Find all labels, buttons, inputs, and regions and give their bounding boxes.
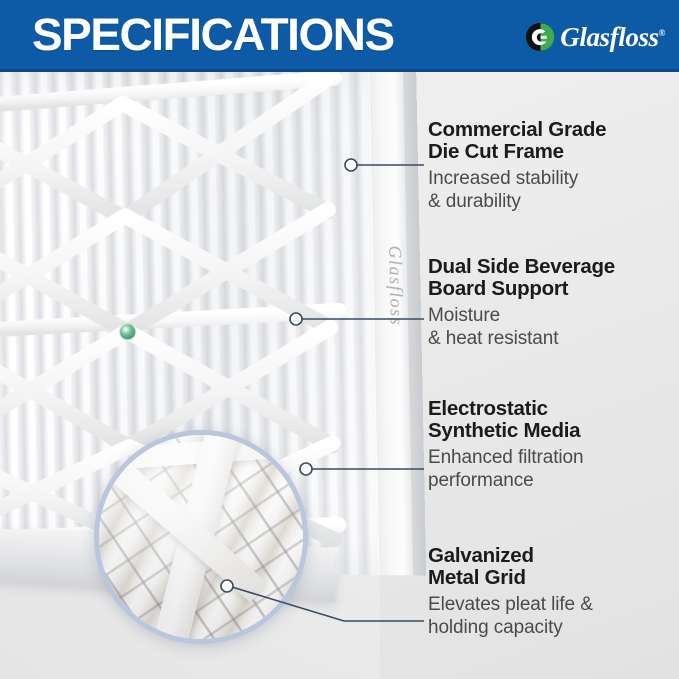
brand-name: Glasfloss <box>560 22 658 52</box>
callout-dual-side-beverage-board-support: Dual Side Beverage Board Support Moistur… <box>428 256 679 350</box>
callout-sub-line1: Enhanced filtration <box>428 446 679 469</box>
brand-trademark: ® <box>659 28 665 38</box>
callout-title-line1: Commercial Grade <box>428 119 679 141</box>
magnifier-contents <box>99 435 303 639</box>
header-bar: SPECIFICATIONS Glasfloss® <box>0 0 679 72</box>
callout-sub-line2: & heat resistant <box>428 327 679 350</box>
callout-commercial-grade-die-cut-frame: Commercial Grade Die Cut Frame Increased… <box>428 119 679 213</box>
callout-sub-line1: Moisture <box>428 304 679 327</box>
callout-sub-line1: Elevates pleat life & <box>428 593 679 616</box>
frame-brand-label: Glasfloss <box>384 245 407 326</box>
callout-sub-line2: performance <box>428 469 679 492</box>
callout-title-line2: Board Support <box>428 278 679 300</box>
callout-title-line1: Dual Side Beverage <box>428 256 679 278</box>
glasfloss-g-logo-icon <box>525 22 555 52</box>
callout-electrostatic-synthetic-media: Electrostatic Synthetic Media Enhanced f… <box>428 398 679 492</box>
callout-title-line1: Electrostatic <box>428 398 679 420</box>
brand-wordmark: Glasfloss® <box>560 24 665 51</box>
callout-sub-line1: Increased stability <box>428 167 679 190</box>
magnified-detail-circle <box>94 430 308 644</box>
magnifier-shading-overlay <box>99 435 303 639</box>
brand-logo: Glasfloss® <box>525 20 665 54</box>
callout-title-line2: Die Cut Frame <box>428 141 679 163</box>
callout-sub-line2: holding capacity <box>428 616 679 639</box>
callout-title-line2: Metal Grid <box>428 567 679 589</box>
specifications-infographic: Glasfloss <box>0 0 679 679</box>
callout-sub-line2: & durability <box>428 190 679 213</box>
callout-galvanized-metal-grid: Galvanized Metal Grid Elevates pleat lif… <box>428 545 679 639</box>
page-title: SPECIFICATIONS <box>32 9 394 61</box>
callout-title-line1: Galvanized <box>428 545 679 567</box>
callout-title-line2: Synthetic Media <box>428 420 679 442</box>
